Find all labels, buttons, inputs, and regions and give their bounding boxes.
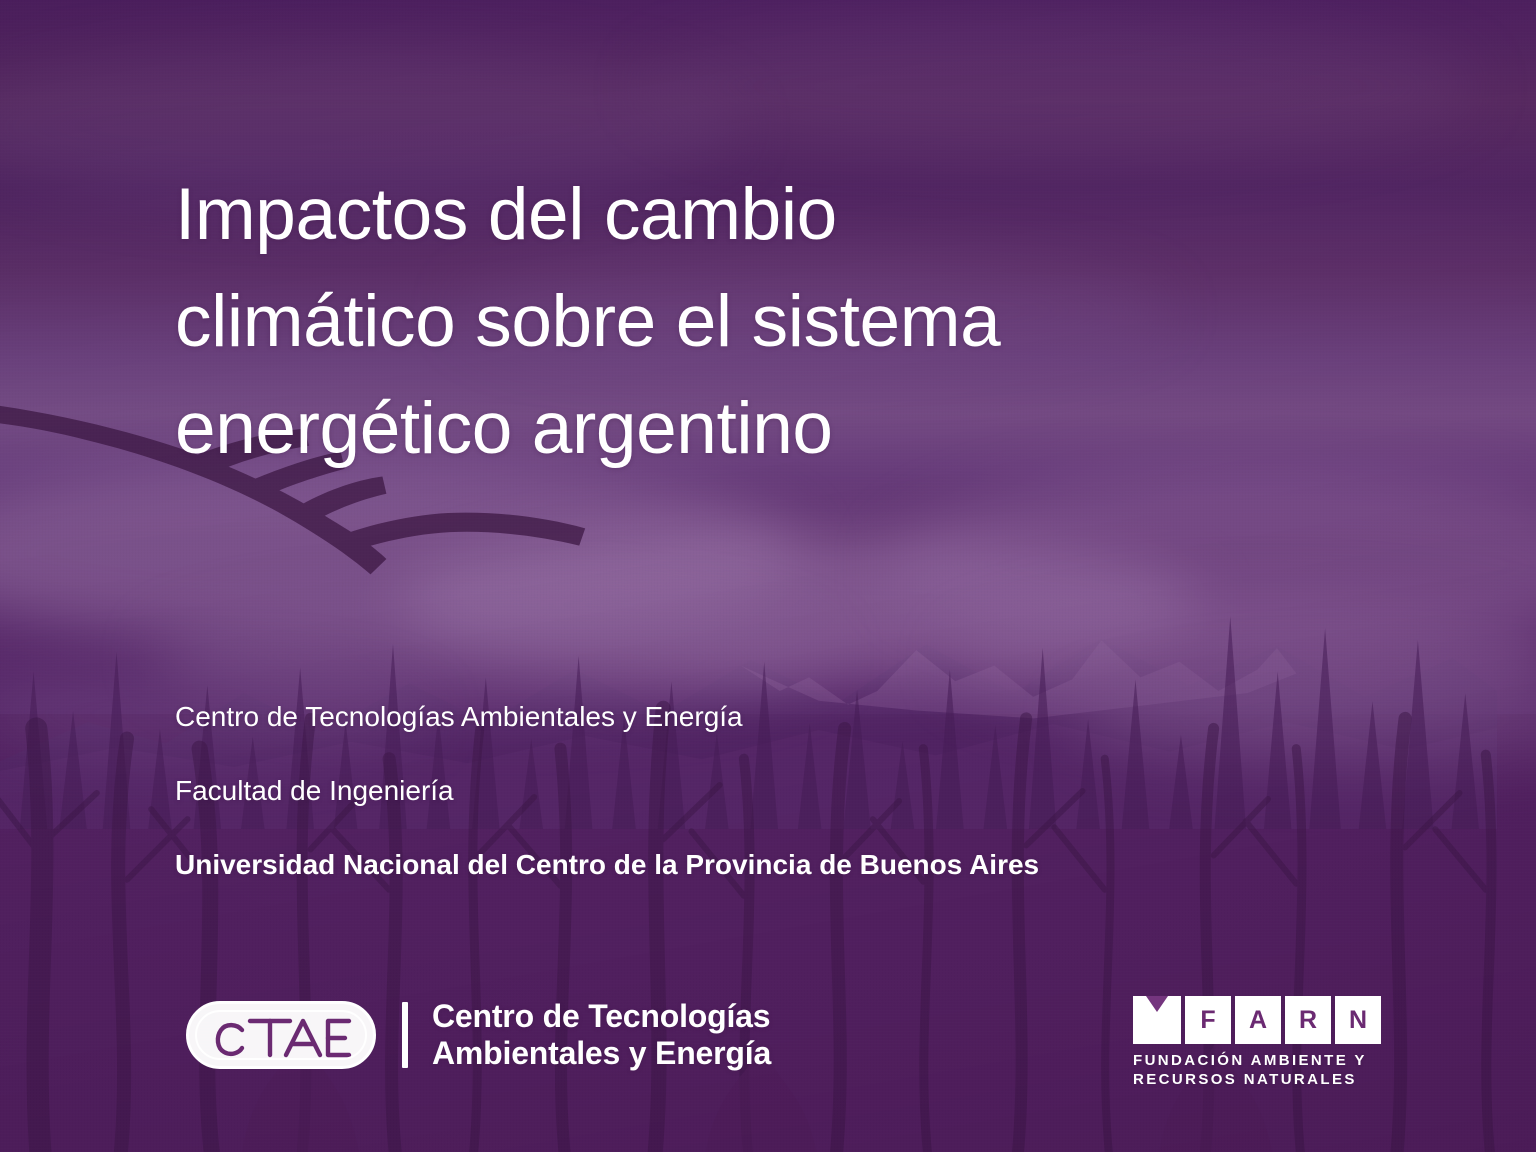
farn-square-f: F <box>1185 996 1231 1044</box>
slide-content: Impactos del cambio climático sobre el s… <box>0 0 1536 1152</box>
farn-tagline: FUNDACIÓN AMBIENTE Y RECURSOS NATURALES <box>1133 1051 1381 1089</box>
affiliation-line-university: Universidad Nacional del Centro de la Pr… <box>175 848 1375 882</box>
farn-square-a: A <box>1235 996 1281 1044</box>
title-slide: Impactos del cambio climático sobre el s… <box>0 0 1536 1152</box>
affiliation-line-faculty: Facultad de Ingeniería <box>175 774 1375 808</box>
farn-letter-squares: F A R N <box>1133 996 1381 1044</box>
ctae-divider <box>402 1002 408 1068</box>
affiliation-line-center: Centro de Tecnologías Ambientales y Ener… <box>175 700 1375 734</box>
ctae-wordmark: Centro de Tecnologías Ambientales y Ener… <box>432 998 771 1072</box>
farn-square-r: R <box>1285 996 1331 1044</box>
farn-square-n: N <box>1335 996 1381 1044</box>
ctae-mark-icon <box>186 1001 376 1069</box>
ctae-logo: Centro de Tecnologías Ambientales y Ener… <box>186 998 771 1072</box>
farn-notch-square <box>1133 996 1181 1044</box>
farn-logo: F A R N FUNDACIÓN AMBIENTE Y RECURSOS NA… <box>1133 996 1381 1089</box>
affiliation-block: Centro de Tecnologías Ambientales y Ener… <box>175 700 1375 882</box>
slide-title: Impactos del cambio climático sobre el s… <box>175 161 1295 482</box>
